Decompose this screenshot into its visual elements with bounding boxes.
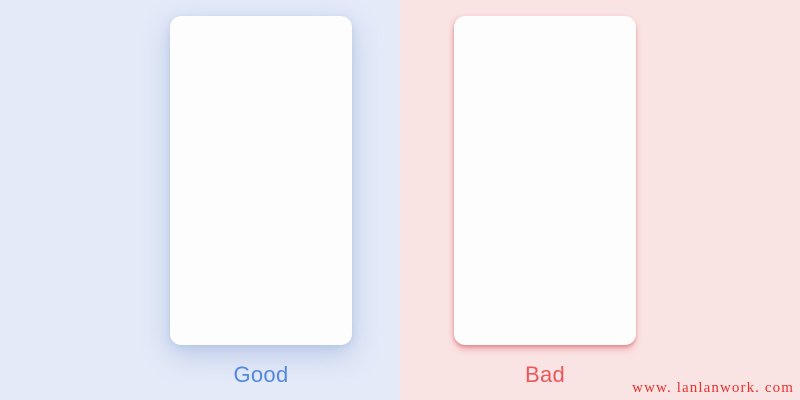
card-bad-shadow-example (454, 16, 636, 345)
site-watermark: www. lanlanwork. com (632, 380, 794, 397)
card-good-shadow-example (170, 16, 352, 345)
comparison-stage: Good Bad www. lanlanwork. com (0, 0, 800, 400)
panel-good: Good (0, 0, 400, 400)
caption-good: Good (170, 360, 352, 390)
caption-bad: Bad (454, 360, 636, 390)
panel-bad: Bad (400, 0, 800, 400)
